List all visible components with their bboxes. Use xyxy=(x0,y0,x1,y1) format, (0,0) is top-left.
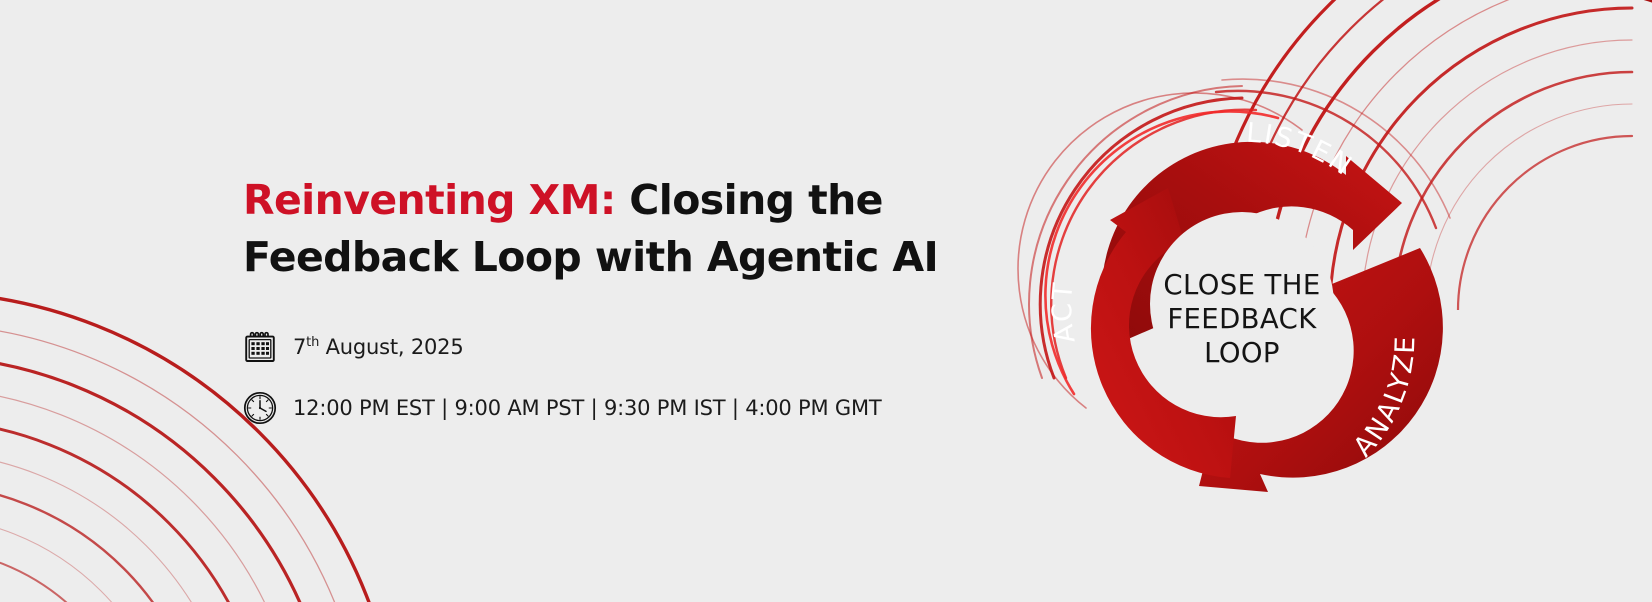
diagram-center-line1: CLOSE THE xyxy=(1163,269,1320,301)
webinar-banner: Reinventing XM: Closing the Feedback Loo… xyxy=(0,0,1652,602)
segment-label-act: ACT xyxy=(1047,280,1082,345)
feedback-loop-diagram: LISTEN ANALYZE ACT CLOSE THE FEEDBACK LO… xyxy=(1016,78,1468,530)
calendar-icon xyxy=(243,330,277,364)
diagram-center-line3: LOOP xyxy=(1204,337,1280,369)
diagram-center-line2: FEEDBACK xyxy=(1167,303,1317,335)
event-time-row: 12:00 PM EST | 9:00 AM PST | 9:30 PM IST… xyxy=(243,391,1003,425)
event-date-ordinal: th xyxy=(306,335,319,350)
headline-accent: Reinventing XM: xyxy=(243,176,616,224)
headline-rest-line1: Closing the xyxy=(616,176,883,224)
headline-block: Reinventing XM: Closing the Feedback Loo… xyxy=(243,172,1003,425)
event-time-text: 12:00 PM EST | 9:00 AM PST | 9:30 PM IST… xyxy=(293,396,882,420)
event-date-rest: August, 2025 xyxy=(319,335,463,359)
event-date-text: 7th August, 2025 xyxy=(293,335,463,359)
clock-icon xyxy=(243,391,277,425)
page-title: Reinventing XM: Closing the Feedback Loo… xyxy=(243,172,1003,286)
event-date-day: 7 xyxy=(293,335,306,359)
event-date-row: 7th August, 2025 xyxy=(243,330,1003,364)
headline-line2: Feedback Loop with Agentic AI xyxy=(243,233,938,281)
